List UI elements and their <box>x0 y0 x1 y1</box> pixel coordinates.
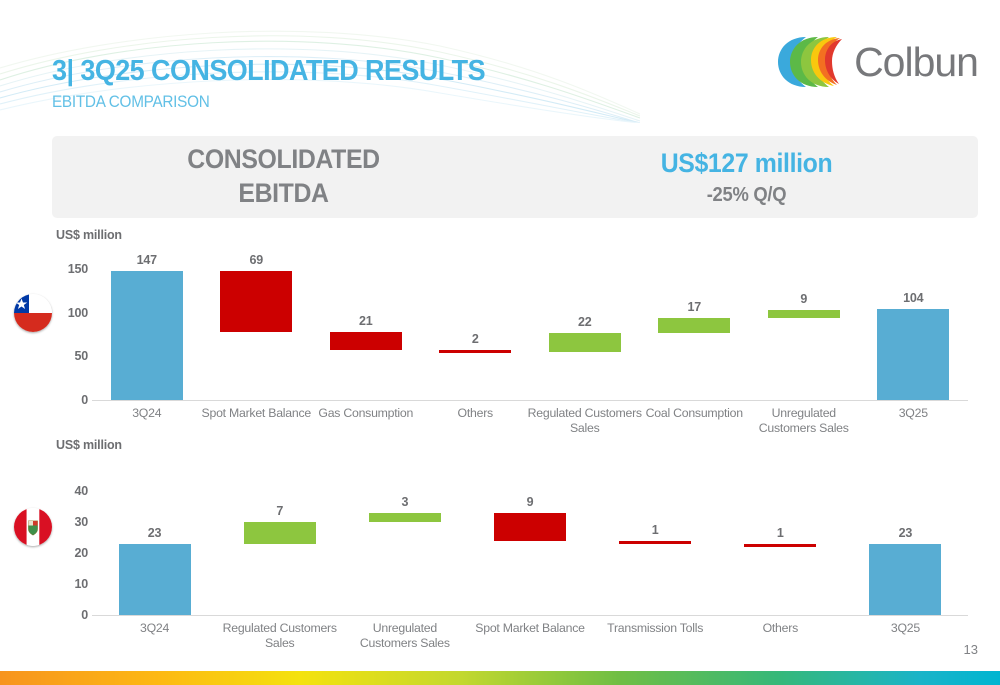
bar-value-label: 23 <box>148 526 162 540</box>
colbun-arc-logo-icon <box>776 33 848 91</box>
banner-value: US$127 million <box>534 147 960 179</box>
y-axis-tick: 150 <box>44 262 88 276</box>
bar-3q24 <box>111 271 183 400</box>
y-axis-tick: 50 <box>44 349 88 363</box>
bar-value-label: 3 <box>401 495 408 509</box>
section-number: 3| <box>52 55 73 87</box>
banner-delta: -25% Q/Q <box>534 183 960 207</box>
page-title-text: 3Q25 CONSOLIDATED RESULTS <box>80 55 485 87</box>
x-axis-category-label: 3Q24 <box>95 621 215 636</box>
bar-regulated-customers-sales <box>244 522 316 544</box>
bar-gas-consumption <box>330 332 402 350</box>
y-axis-tick: 40 <box>44 484 88 498</box>
page-title-block: 3| 3Q25 CONSOLIDATED RESULTS EBITDA COMP… <box>52 57 518 110</box>
peru-flag-icon <box>14 508 52 546</box>
banner-label-line1: CONSOLIDATED <box>71 143 497 177</box>
x-axis-category-label: Unregulated Customers Sales <box>345 621 465 652</box>
bar-coal-consumption <box>658 318 730 333</box>
x-axis-category-label: 3Q25 <box>853 406 973 421</box>
bar-value-label: 22 <box>578 315 592 329</box>
y-axis: 010203040 <box>44 438 88 650</box>
bar-3q25 <box>869 544 941 615</box>
banner-values: US$127 million -25% Q/Q <box>534 147 960 207</box>
x-axis-category-label: Coal Consumption <box>634 406 754 421</box>
x-axis-category-label: 3Q24 <box>87 406 207 421</box>
x-axis-category-label: Regulated Customers Sales <box>220 621 340 652</box>
y-axis-tick: 10 <box>44 577 88 591</box>
bar-regulated-customers-sales <box>549 333 621 352</box>
page-number: 13 <box>964 642 978 657</box>
x-axis-category-label: Transmission Tolls <box>595 621 715 636</box>
bar-3q24 <box>119 544 191 615</box>
bar-value-label: 9 <box>527 495 534 509</box>
bar-value-label: 1 <box>652 523 659 537</box>
bar-unregulated-customers-sales <box>768 310 840 318</box>
ebitda-banner: CONSOLIDATED EBITDA US$127 million -25% … <box>52 136 978 218</box>
y-axis-tick: 20 <box>44 546 88 560</box>
x-axis-category-label: Spot Market Balance <box>470 621 590 636</box>
chile-flag-icon <box>14 294 52 332</box>
waterfall-chart-chile: US$ million0501001501473Q2469Spot Market… <box>0 228 1000 440</box>
bar-value-label: 21 <box>359 314 373 328</box>
banner-label: CONSOLIDATED EBITDA <box>71 143 497 211</box>
x-axis-category-label: Unregulated Customers Sales <box>744 406 864 437</box>
page-title: 3| 3Q25 CONSOLIDATED RESULTS <box>52 57 485 86</box>
page-subtitle: EBITDA COMPARISON <box>52 93 471 110</box>
bar-unregulated-customers-sales <box>369 513 441 522</box>
bar-3q25 <box>877 309 949 400</box>
x-axis-baseline <box>92 615 968 616</box>
y-axis-tick: 0 <box>44 393 88 407</box>
waterfall-chart-peru: US$ million010203040233Q247Regulated Cus… <box>0 438 1000 650</box>
colbun-logo: Colbun <box>776 33 978 91</box>
footer-gradient-bar <box>0 671 1000 685</box>
bar-value-label: 1 <box>777 526 784 540</box>
x-axis-category-label: 3Q25 <box>845 621 965 636</box>
bar-others <box>744 544 816 547</box>
slide: 3| 3Q25 CONSOLIDATED RESULTS EBITDA COMP… <box>0 0 1000 685</box>
bar-value-label: 23 <box>899 526 913 540</box>
x-axis-category-label: Spot Market Balance <box>196 406 316 421</box>
logo-text: Colbun <box>854 42 978 83</box>
x-axis-category-label: Regulated Customers Sales <box>525 406 645 437</box>
bar-spot-market-balance <box>220 271 292 331</box>
bar-value-label: 7 <box>276 504 283 518</box>
y-axis: 050100150 <box>44 228 88 440</box>
x-axis-category-label: Others <box>720 621 840 636</box>
bar-value-label: 9 <box>800 292 807 306</box>
x-axis-category-label: Gas Consumption <box>306 406 426 421</box>
y-axis-tick: 0 <box>44 608 88 622</box>
bar-transmission-tolls <box>619 541 691 544</box>
bar-value-label: 104 <box>903 291 923 305</box>
bar-value-label: 69 <box>249 253 263 267</box>
bar-value-label: 147 <box>137 253 157 267</box>
bar-spot-market-balance <box>494 513 566 541</box>
x-axis-category-label: Others <box>415 406 535 421</box>
bar-value-label: 17 <box>687 300 701 314</box>
x-axis-baseline <box>92 400 968 401</box>
banner-label-line2: EBITDA <box>71 177 497 211</box>
bar-others <box>439 350 511 353</box>
bar-value-label: 2 <box>472 332 479 346</box>
